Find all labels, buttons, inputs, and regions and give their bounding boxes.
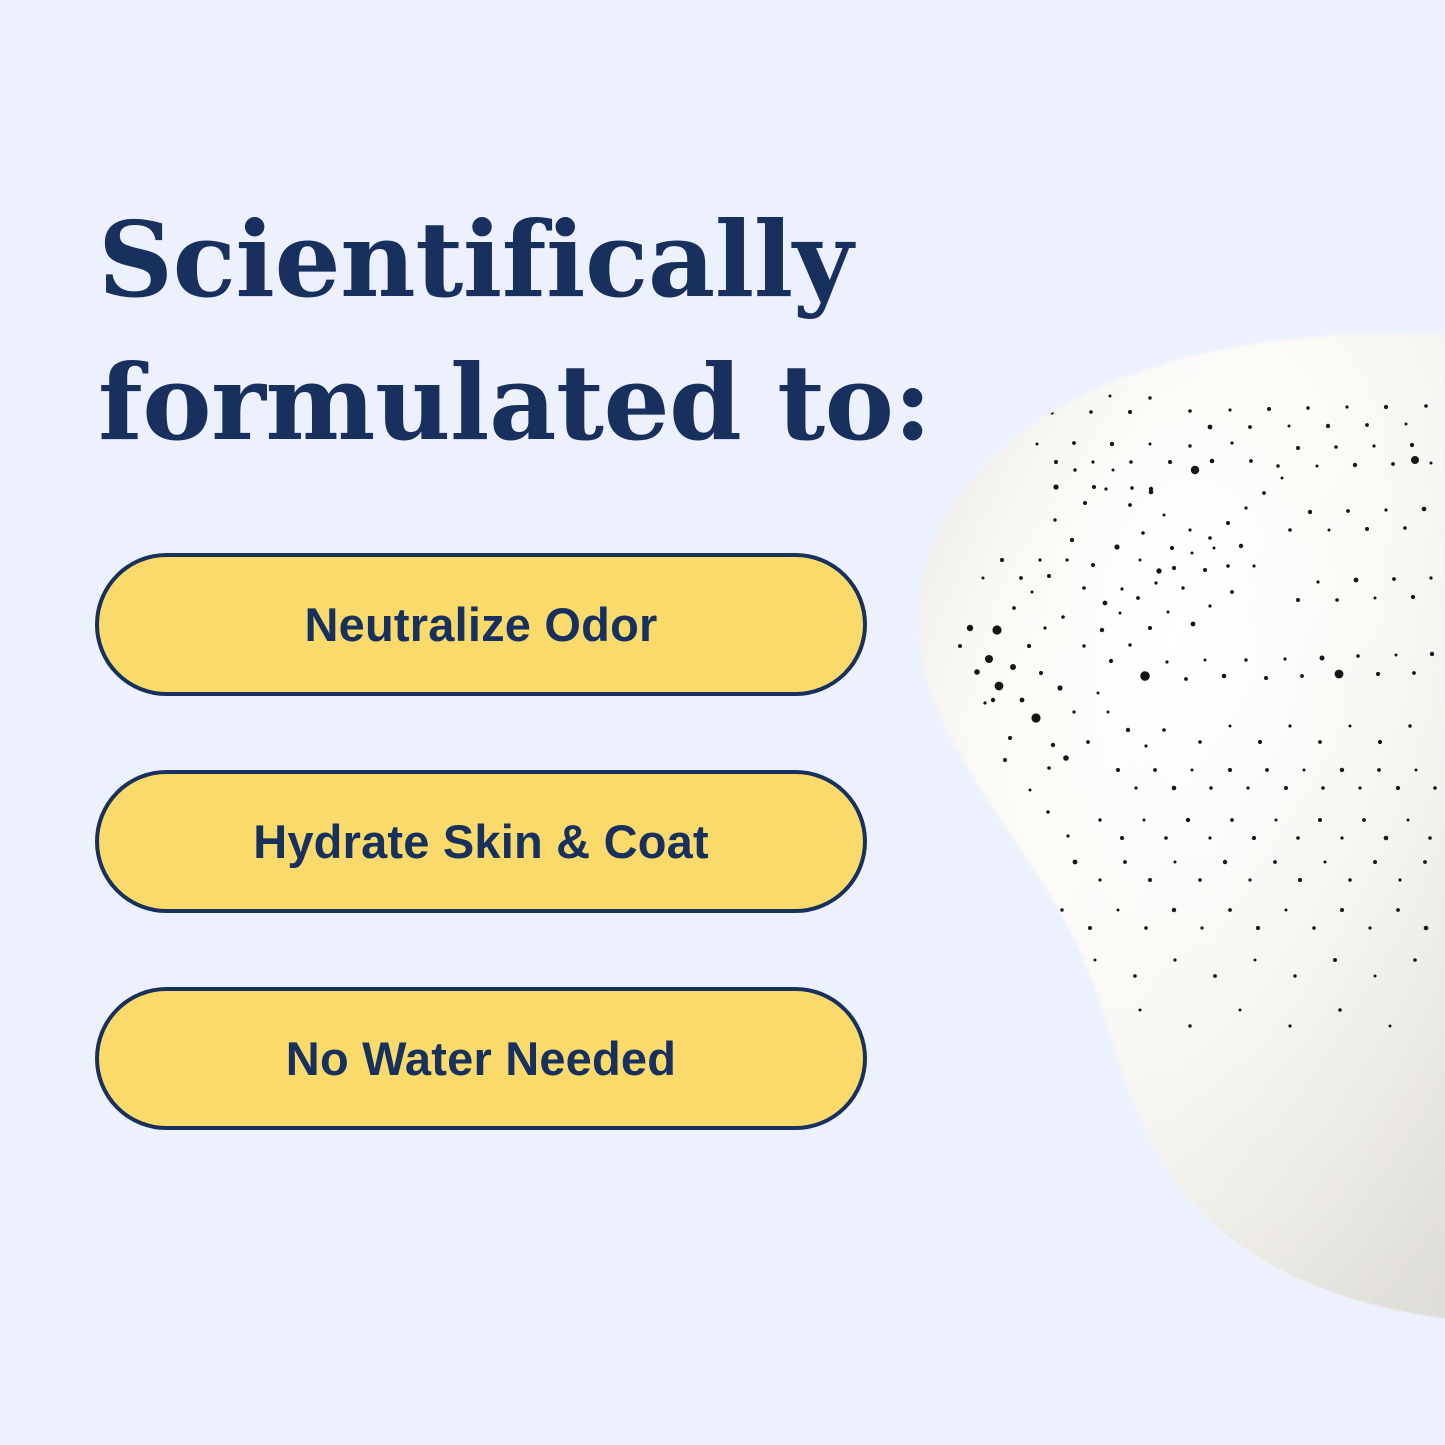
benefit-pill-label: Hydrate Skin & Coat	[253, 818, 709, 865]
benefit-pill-list: Neutralize Odor Hydrate Skin & Coat No W…	[95, 553, 867, 1130]
promo-graphic: Scientifically formulated to: Neutralize…	[0, 0, 1445, 1445]
benefit-pill-label: Neutralize Odor	[305, 601, 658, 648]
benefit-pill-hydrate-skin-and-coat[interactable]: Hydrate Skin & Coat	[95, 770, 867, 913]
blob-body	[919, 334, 1445, 1318]
benefit-pill-no-water-needed[interactable]: No Water Needed	[95, 987, 867, 1130]
page-title: Scientifically formulated to:	[98, 188, 958, 475]
charcoal-speckles	[958, 395, 1437, 1028]
benefit-pill-label: No Water Needed	[286, 1035, 676, 1082]
benefit-pill-neutralize-odor[interactable]: Neutralize Odor	[95, 553, 867, 696]
